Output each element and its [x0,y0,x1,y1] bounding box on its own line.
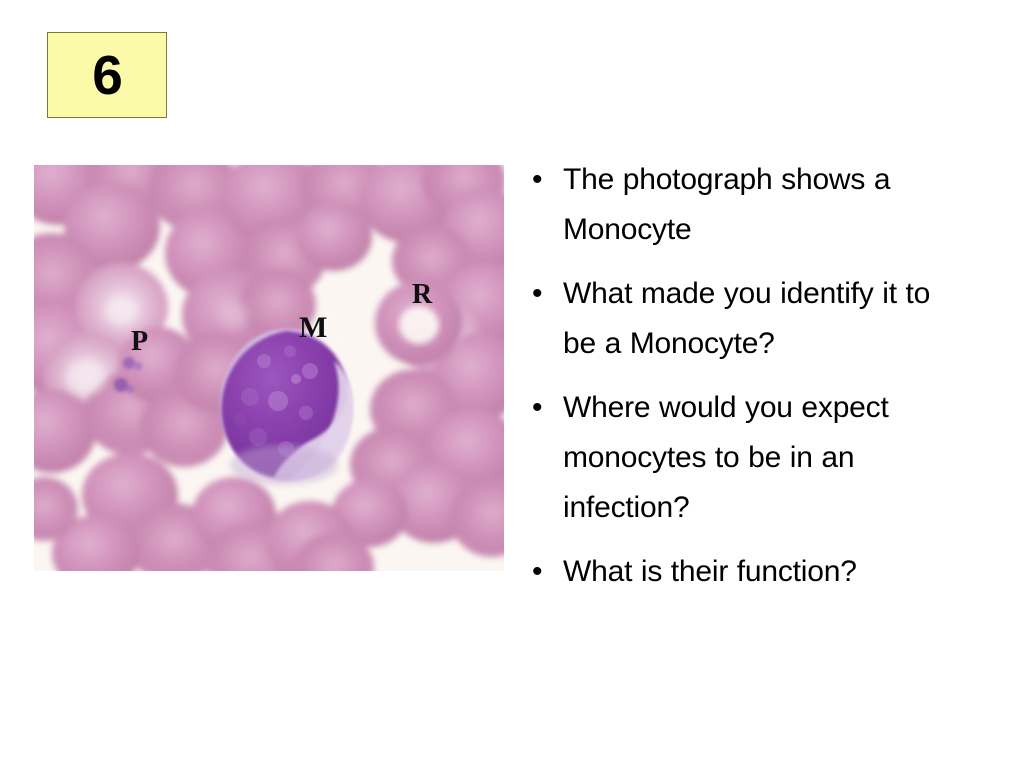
label-r: R [412,279,433,310]
bullet-text-4: What is their function? [563,547,962,597]
film-grain [34,165,504,571]
bullet-item-2: • What made you identify it to be a Mono… [527,269,962,369]
bullet-list: • The photograph shows a Monocyte • What… [527,155,962,597]
bullet-marker-icon: • [527,269,563,319]
label-m: M [299,311,327,344]
bullet-text-3: Where would you expect monocytes to be i… [563,383,962,533]
slide-number-text: 6 [92,48,122,103]
micrograph-canvas: P M R [34,165,504,571]
bullet-item-1: • The photograph shows a Monocyte [527,155,962,255]
bullet-marker-icon: • [527,383,563,433]
blood-smear-micrograph: P M R [34,165,504,571]
bullet-marker-icon: • [527,155,563,205]
bullet-item-4: • What is their function? [527,547,962,597]
bullet-marker-icon: • [527,547,563,597]
slide-number-badge: 6 [47,32,167,118]
bullet-text-2: What made you identify it to be a Monocy… [563,269,962,369]
bullet-item-3: • Where would you expect monocytes to be… [527,383,962,533]
label-p: P [131,326,148,357]
bullet-text-1: The photograph shows a Monocyte [563,155,962,255]
